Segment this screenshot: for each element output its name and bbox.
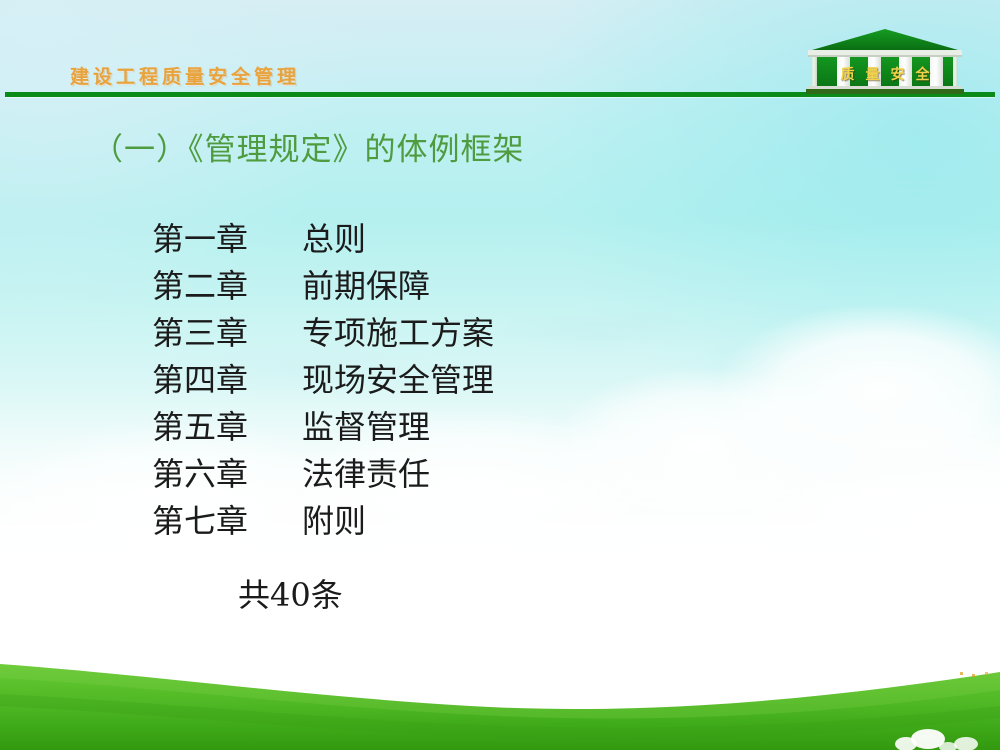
list-item: 第三章 专项施工方案 [152, 308, 772, 355]
chapter-name: 现场安全管理 [302, 355, 772, 401]
presentation-slide: 建设工程质量安全管理 [0, 0, 1000, 750]
list-item: 第四章 现场安全管理 [152, 355, 772, 402]
chapter-number: 第二章 [152, 261, 302, 307]
chapter-name: 法律责任 [302, 449, 772, 495]
chapter-name: 前期保障 [302, 261, 772, 307]
list-item: 第二章 前期保障 [152, 261, 772, 308]
grass-field [0, 620, 1000, 750]
slide-header: 建设工程质量安全管理 [0, 0, 1000, 100]
chapter-number: 第七章 [152, 496, 302, 542]
list-item: 第五章 监督管理 [152, 402, 772, 449]
chapter-number: 第六章 [152, 449, 302, 495]
page-title: （一）《管理规定》的体例框架 [92, 124, 525, 169]
list-item: 第一章 总则 [152, 214, 772, 261]
chapter-name: 监督管理 [302, 402, 772, 448]
chapter-number: 第五章 [152, 402, 302, 448]
total-articles-text: 共40条 [238, 570, 343, 616]
header-title: 建设工程质量安全管理 [70, 62, 300, 89]
quality-safety-building-logo: 质量安全 [806, 28, 964, 94]
chapter-name: 附则 [302, 496, 772, 542]
chapter-name: 总则 [302, 214, 772, 260]
chapter-name: 专项施工方案 [302, 308, 772, 354]
chapter-number: 第四章 [152, 355, 302, 401]
list-item: 第六章 法律责任 [152, 449, 772, 496]
chapter-number: 第三章 [152, 308, 302, 354]
list-item: 第七章 附则 [152, 496, 772, 543]
chapter-number: 第一章 [152, 214, 302, 260]
chapter-list: 第一章 总则 第二章 前期保障 第三章 专项施工方案 第四章 现场安全管理 第五… [152, 214, 772, 543]
